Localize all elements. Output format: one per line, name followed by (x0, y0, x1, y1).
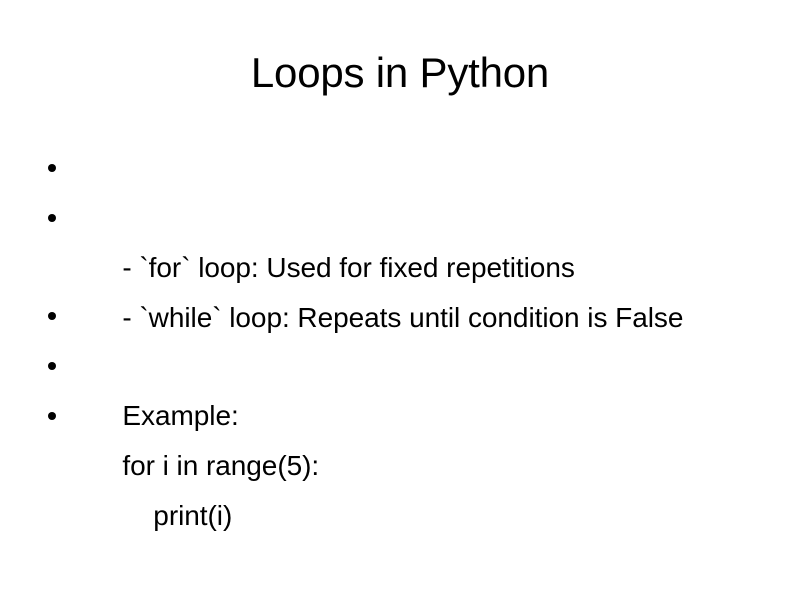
bullet-disc-icon (48, 362, 56, 370)
bullet-disc-icon (48, 312, 56, 320)
presentation-slide: Loops in Python - `for` loop: Used for f… (0, 0, 800, 600)
slide-body-bullet-list: - `for` loop: Used for fixed repetitions… (40, 143, 770, 441)
list-item-label: print(i) (122, 491, 232, 541)
page-title: Loops in Python (40, 47, 760, 99)
bullet-disc-icon (48, 164, 56, 172)
list-item-label: for i in range(5): (122, 441, 319, 491)
bullet-disc-icon (48, 412, 56, 420)
list-item[interactable]: print(i) (40, 391, 770, 441)
bullet-disc-icon (48, 214, 56, 222)
list-item[interactable]: - `for` loop: Used for fixed repetitions (40, 143, 770, 193)
list-item[interactable]: Example: (40, 291, 770, 341)
list-item[interactable]: for i in range(5): (40, 341, 770, 391)
list-item[interactable]: - `while` loop: Repeats until condition … (40, 193, 770, 243)
list-item-blank (40, 243, 770, 291)
